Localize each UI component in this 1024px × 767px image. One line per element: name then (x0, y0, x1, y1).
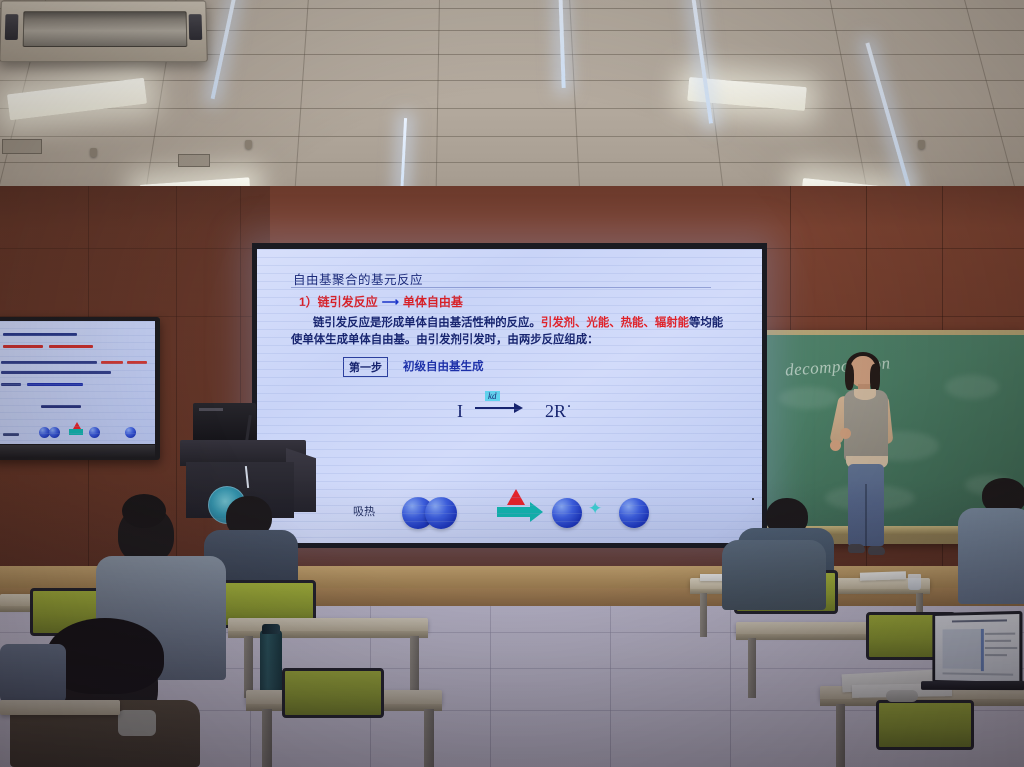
slide-body-highlight-initiator: 引发剂 (541, 317, 575, 329)
energy-triangle-icon (507, 489, 525, 505)
instructor-hand-right (840, 428, 851, 439)
chair (876, 700, 974, 750)
slide-body-sep3: 、 (643, 317, 654, 329)
ceiling-light-panel (7, 78, 147, 121)
desk-leg (700, 593, 707, 637)
classroom-photo: decomposition 自由基聚合的基元反应 1）链引发反应⟶单体自由基 链… (0, 0, 1024, 767)
slide-body-sep1: 、 (575, 317, 586, 329)
auxiliary-display-bezel-bottom (0, 445, 155, 458)
desk-leg (410, 636, 419, 694)
desk-edge (228, 631, 428, 638)
instructor-hand-left (830, 440, 841, 451)
paper-sheet (860, 571, 906, 581)
air-conditioner-grille (23, 11, 188, 47)
radical-sphere (619, 498, 649, 528)
instructor-vest (844, 390, 888, 462)
slide-body-highlight-radiation: 辐射能 (655, 317, 689, 329)
slide-animation-label: 吸热 (353, 503, 375, 519)
face-mask (118, 710, 156, 736)
sprinkler-head (918, 140, 925, 149)
instructor-collar (854, 389, 876, 400)
desk-leg (424, 709, 434, 767)
chair (282, 668, 384, 718)
ceiling-vent (178, 154, 210, 167)
mouse[interactable] (886, 690, 918, 702)
projection-screen-frame: 自由基聚合的基元反应 1）链引发反应⟶单体自由基 链引发反应是形成单体自由基活性… (252, 243, 767, 548)
slide-equation-arrow-icon (475, 407, 521, 409)
drinking-glass (908, 574, 921, 590)
slide-equation-left: I (457, 401, 463, 422)
instructor-leg-seam (865, 484, 867, 546)
student-body (722, 540, 826, 610)
student-body (958, 508, 1024, 604)
podium-monitor-reflection (199, 408, 223, 411)
sprinkler-head (90, 148, 97, 157)
slide-body-text: 链引发反应是形成单体自由基活性种的反应。引发剂、光能、热能、辐射能等均能使单体生… (291, 315, 731, 349)
slide-body-sep2: 、 (609, 317, 620, 329)
auxiliary-display[interactable] (0, 317, 160, 460)
instructor (828, 356, 906, 596)
slide-subheading-product: 单体自由基 (403, 295, 463, 309)
radical-sphere (552, 498, 582, 528)
backpack (0, 644, 66, 704)
desk-leg (244, 636, 253, 698)
laptop-keyboard-base[interactable] (921, 681, 1024, 690)
auxiliary-display-screen (0, 321, 155, 444)
laptop-display (935, 614, 1019, 682)
ceiling-vent (2, 139, 42, 154)
student-hair-bun (122, 494, 166, 528)
slide-animation-row: 吸热 (257, 481, 762, 541)
desk-leg (748, 638, 756, 698)
desk (0, 700, 120, 715)
slide-step-box: 第一步 (343, 357, 388, 377)
instructor-shoe-left (848, 544, 865, 553)
thermos-bottle[interactable] (260, 630, 282, 696)
molecule-sphere (425, 497, 457, 529)
slide-subheading-label: 1）链引发反应 (299, 295, 378, 309)
slide-subheading-arrow-icon: ⟶ (378, 295, 403, 309)
slide-step-label: 初级自由基生成 (403, 358, 484, 374)
reaction-arrow-icon (497, 507, 531, 517)
slide-body-highlight-heat: 热能 (621, 317, 644, 329)
desk-leg (836, 704, 845, 767)
desk (228, 618, 428, 632)
air-conditioner-unit (0, 0, 208, 62)
instructor-hair-left (845, 364, 854, 390)
slide-body-part1: 链引发反应是形成单体自由基活性种的反应。 (291, 317, 541, 329)
slide-body-highlight-light: 光能 (586, 317, 609, 329)
slide-equation-rate-constant: kd (485, 391, 500, 401)
slide-title: 自由基聚合的基元反应 (293, 269, 423, 288)
sprinkler-head (245, 140, 252, 149)
projection-screen[interactable]: 自由基聚合的基元反应 1）链引发反应⟶单体自由基 链引发反应是形成单体自由基活性… (257, 249, 762, 543)
laptop-screen[interactable] (932, 611, 1022, 685)
thermos-cap (262, 624, 280, 634)
student-head (752, 498, 754, 500)
instructor-hair-right (870, 364, 880, 392)
slide-subheading: 1）链引发反应⟶单体自由基 (299, 293, 463, 310)
slide-equation-right: 2R˙ (545, 401, 572, 422)
slide-title-underline (291, 287, 711, 288)
desk-leg (262, 709, 272, 767)
instructor-shoe-right (868, 546, 885, 555)
